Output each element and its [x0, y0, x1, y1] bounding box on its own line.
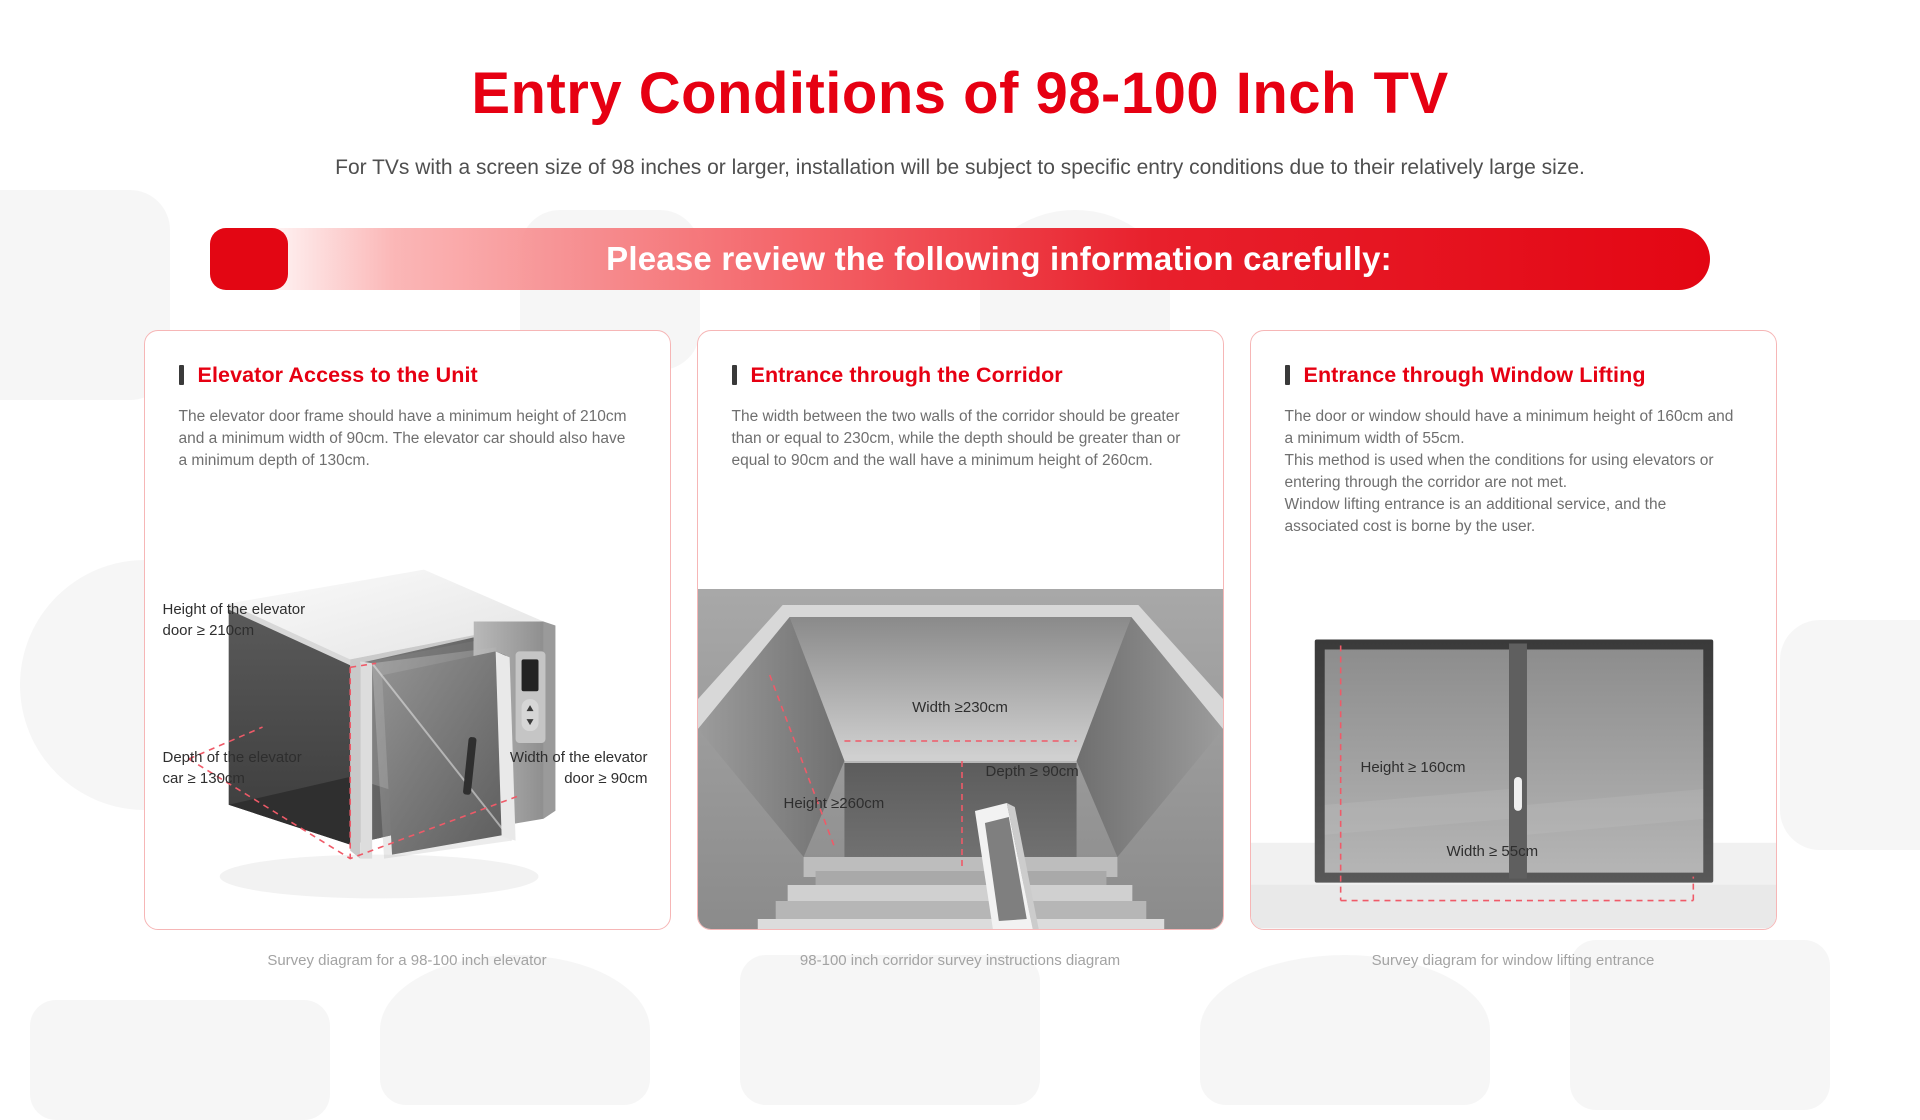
card-elevator-title: Elevator Access to the Unit	[198, 363, 478, 388]
title-accent-bar-icon	[179, 365, 184, 385]
caption-corridor: 98-100 inch corridor survey instructions…	[697, 952, 1224, 969]
notice-banner-accent-block	[210, 228, 288, 290]
window-diagram: Height ≥ 160cm Width ≥ 55cm	[1251, 629, 1776, 929]
condition-cards: Elevator Access to the Unit The elevator…	[0, 330, 1920, 969]
caption-elevator: Survey diagram for a 98-100 inch elevato…	[144, 952, 671, 969]
page-subtitle: For TVs with a screen size of 98 inches …	[0, 156, 1920, 180]
label-elevator-car-depth: Depth of the elevator car ≥ 130cm	[163, 747, 302, 789]
card-corridor-title: Entrance through the Corridor	[751, 363, 1063, 388]
card-corridor-body: The width between the two walls of the c…	[732, 406, 1189, 472]
label-corridor-width: Width ≥230cm	[912, 697, 1008, 718]
card-window-header: Entrance through Window Lifting	[1285, 363, 1742, 388]
label-corridor-height: Height ≥260cm	[784, 793, 885, 814]
title-accent-bar-icon	[732, 365, 737, 385]
elevator-diagram: Height of the elevator door ≥ 210cm Dept…	[145, 559, 670, 929]
card-column-corridor: Entrance through the Corridor The width …	[697, 330, 1224, 969]
label-elevator-door-width: Width of the elevator door ≥ 90cm	[510, 747, 648, 789]
label-window-height: Height ≥ 160cm	[1361, 757, 1466, 778]
caption-window: Survey diagram for window lifting entran…	[1250, 952, 1777, 969]
card-elevator-header: Elevator Access to the Unit	[179, 363, 636, 388]
card-elevator-body: The elevator door frame should have a mi…	[179, 406, 636, 472]
notice-banner: Please review the following information …	[210, 228, 1710, 290]
card-window: Entrance through Window Lifting The door…	[1250, 330, 1777, 930]
window-diagram-svg	[1251, 629, 1776, 929]
card-window-body: The door or window should have a minimum…	[1285, 406, 1742, 538]
title-accent-bar-icon	[1285, 365, 1290, 385]
infographic-page: Entry Conditions of 98-100 Inch TV For T…	[0, 0, 1920, 1080]
notice-banner-text: Please review the following information …	[566, 240, 1392, 278]
corridor-diagram-svg	[698, 589, 1223, 929]
card-corridor: Entrance through the Corridor The width …	[697, 330, 1224, 930]
card-corridor-header: Entrance through the Corridor	[732, 363, 1189, 388]
card-column-elevator: Elevator Access to the Unit The elevator…	[144, 330, 671, 969]
page-title: Entry Conditions of 98-100 Inch TV	[0, 0, 1920, 126]
notice-banner-bar: Please review the following information …	[248, 228, 1710, 290]
label-corridor-depth: Depth ≥ 90cm	[986, 761, 1079, 782]
label-window-width: Width ≥ 55cm	[1447, 841, 1539, 862]
card-column-window: Entrance through Window Lifting The door…	[1250, 330, 1777, 969]
card-window-title: Entrance through Window Lifting	[1304, 363, 1646, 388]
card-elevator: Elevator Access to the Unit The elevator…	[144, 330, 671, 930]
corridor-diagram: Width ≥230cm Depth ≥ 90cm Height ≥260cm	[698, 589, 1223, 929]
label-elevator-door-height: Height of the elevator door ≥ 210cm	[163, 599, 306, 641]
